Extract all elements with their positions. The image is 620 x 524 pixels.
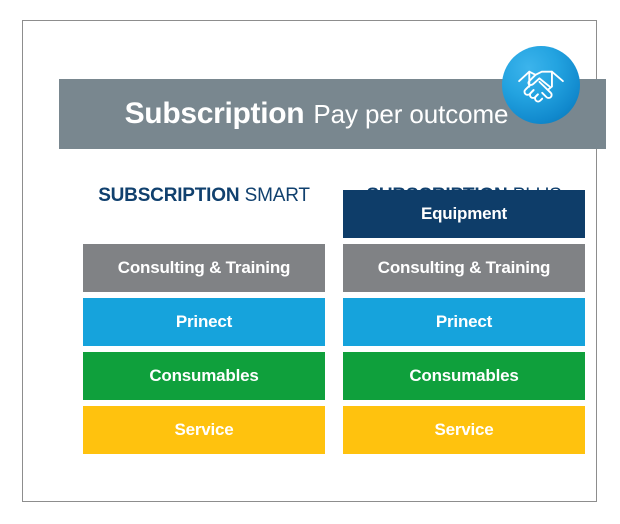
bar-smart-prinect: Prinect [83, 298, 325, 346]
bar-label: Service [174, 420, 233, 440]
stack-plus: Equipment Consulting & Training Prinect … [343, 190, 585, 454]
stack-smart: Consulting & Training Prinect Consumable… [83, 244, 325, 454]
bar-smart-consumables: Consumables [83, 352, 325, 400]
column-heading-smart-light: SMART [245, 185, 310, 206]
diagram-frame: Subscription Pay per outcome SUBSCRIPTIO… [22, 20, 597, 502]
bar-plus-consulting: Consulting & Training [343, 244, 585, 292]
bar-plus-service: Service [343, 406, 585, 454]
bar-plus-prinect: Prinect [343, 298, 585, 346]
bar-plus-consumables: Consumables [343, 352, 585, 400]
bar-label: Prinect [176, 312, 232, 332]
banner-title-strong: Subscription [125, 97, 305, 131]
bar-label: Consulting & Training [118, 258, 290, 278]
bar-label: Service [434, 420, 493, 440]
handshake-icon [502, 46, 580, 124]
column-heading-smart-strong: SUBSCRIPTION [98, 185, 239, 206]
bar-smart-service: Service [83, 406, 325, 454]
bar-label: Consulting & Training [378, 258, 550, 278]
bar-label: Consumables [149, 366, 258, 386]
bar-label: Prinect [436, 312, 492, 332]
bar-label: Consumables [409, 366, 518, 386]
bar-smart-consulting: Consulting & Training [83, 244, 325, 292]
bar-label: Equipment [421, 204, 507, 224]
banner-title-light: Pay per outcome [313, 99, 508, 130]
slide-canvas: Subscription Pay per outcome SUBSCRIPTIO… [0, 0, 620, 524]
column-heading-smart: SUBSCRIPTION SMART [73, 183, 335, 209]
handshake-glyph [516, 60, 566, 110]
bar-plus-equipment: Equipment [343, 190, 585, 238]
